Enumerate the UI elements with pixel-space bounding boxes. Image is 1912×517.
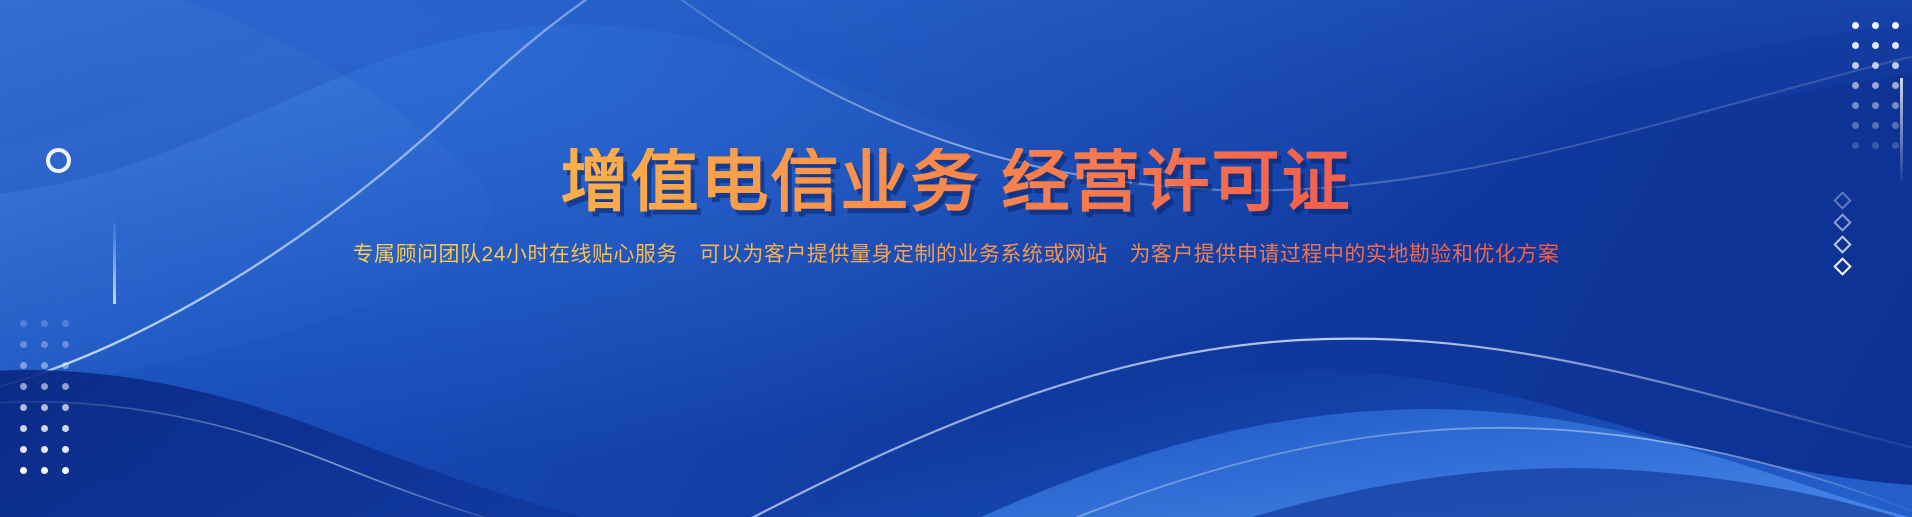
promo-banner: 增值电信业务 经营许可证 专属顾问团队24小时在线贴心服务 可以为客户提供量身定… [0, 0, 1912, 517]
banner-text-block: 增值电信业务 经营许可证 专属顾问团队24小时在线贴心服务 可以为客户提供量身定… [0, 0, 1912, 267]
dot-grid-bottom-left [20, 320, 83, 488]
banner-subtitle: 专属顾问团队24小时在线贴心服务 可以为客户提供量身定制的业务系统或网站 为客户… [0, 242, 1912, 267]
page-title: 增值电信业务 经营许可证 [0, 148, 1912, 216]
